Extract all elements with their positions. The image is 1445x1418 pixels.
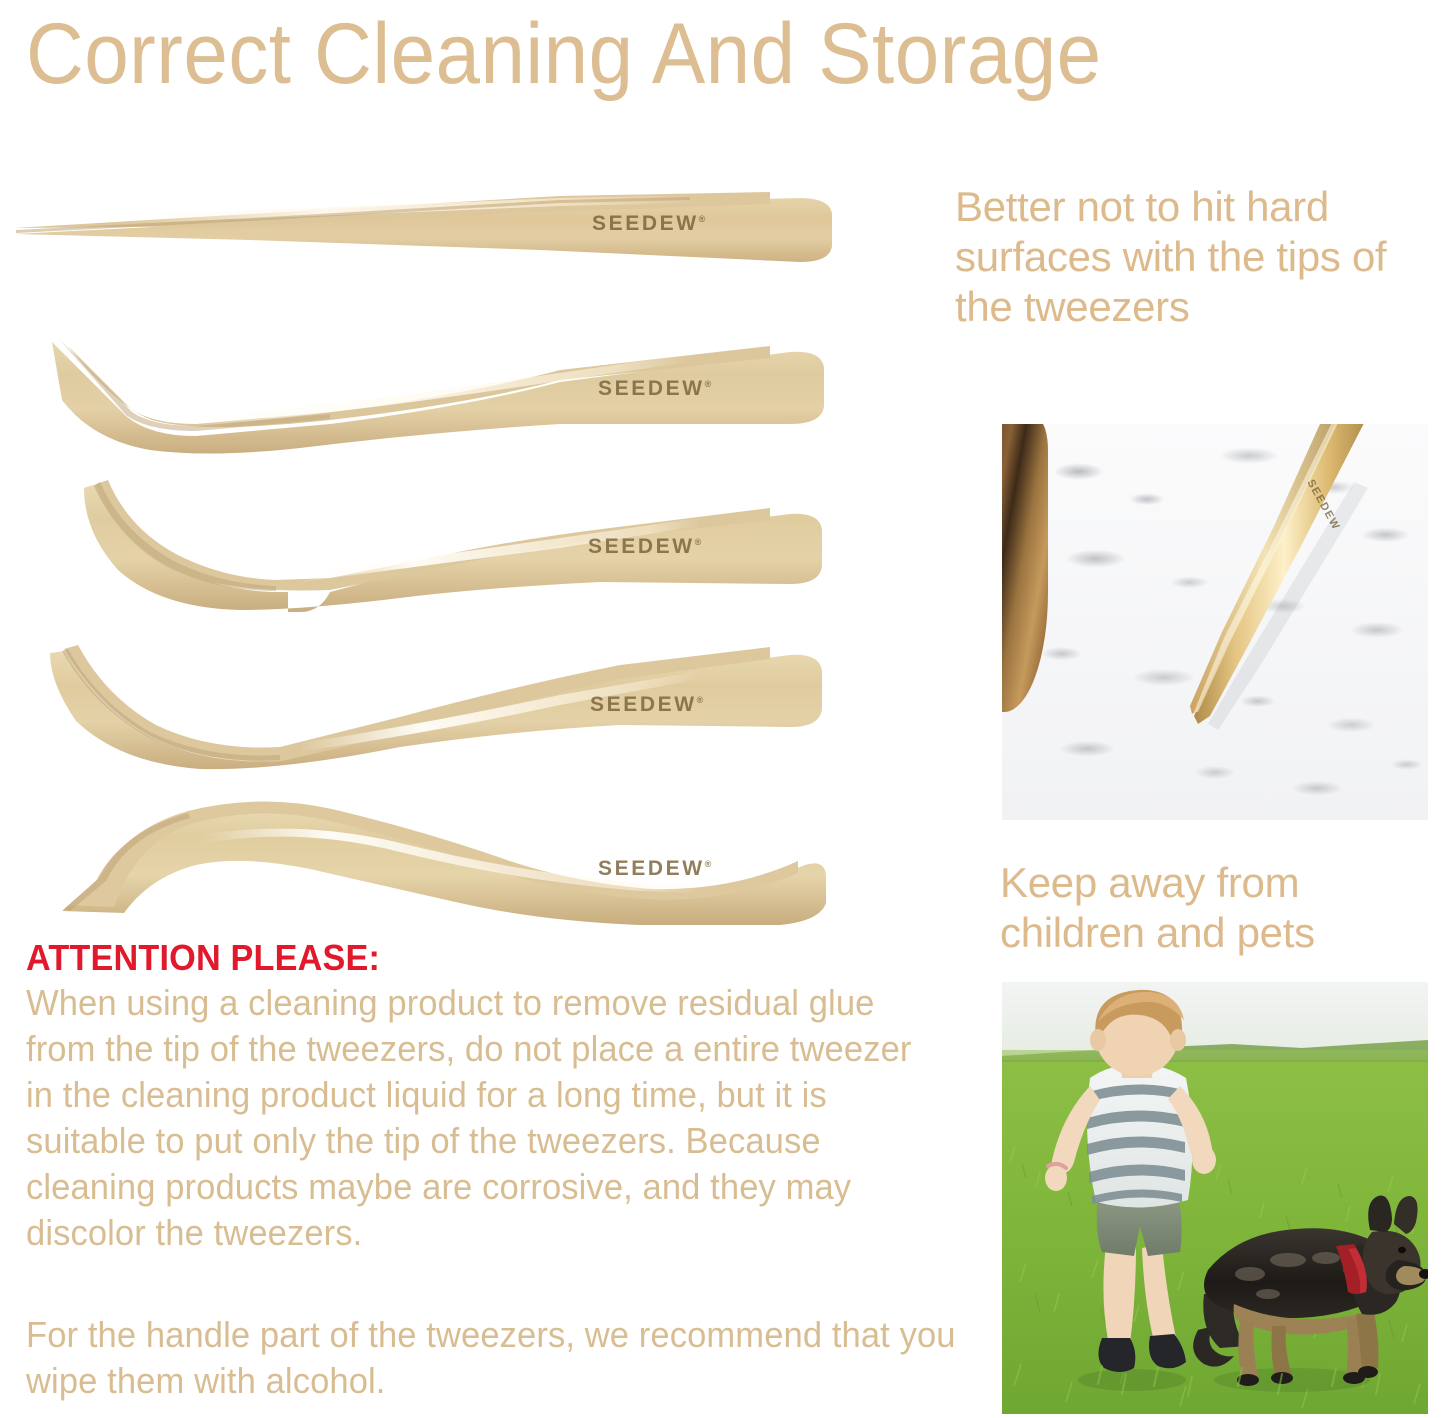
tweezer-brand-text: SEEDEW bbox=[598, 377, 705, 400]
trademark-icon: ® bbox=[699, 214, 706, 224]
tweezer-brand-logo: SEEDEW® bbox=[598, 377, 711, 401]
attention-body-text: When using a cleaning product to remove … bbox=[26, 980, 948, 1256]
tweezer-brand-logo: SEEDEW® bbox=[592, 212, 705, 236]
tweezer-boot-45: SEEDEW® bbox=[0, 320, 880, 470]
handle-care-note: For the handle part of the tweezers, we … bbox=[26, 1312, 967, 1404]
trademark-icon: ® bbox=[705, 379, 712, 389]
infographic-page: Correct Cleaning And Storage bbox=[0, 0, 1445, 1418]
tweezer-brand-logo: SEEDEW® bbox=[598, 857, 711, 881]
heading-keep-away-children-pets: Keep away from children and pets bbox=[1000, 858, 1440, 958]
photo-child-and-dog bbox=[1002, 982, 1428, 1414]
tweezer-brand-text: SEEDEW bbox=[590, 693, 697, 716]
attention-heading: ATTENTION PLEASE: bbox=[26, 938, 938, 978]
marble-photo-tweezer: SEEDEW bbox=[1002, 424, 1428, 820]
tweezer-brand-logo: SEEDEW® bbox=[588, 535, 701, 559]
attention-block: ATTENTION PLEASE: When using a cleaning … bbox=[26, 938, 986, 1256]
tweezer-brand-text: SEEDEW bbox=[598, 857, 705, 880]
tweezer-brand-text: SEEDEW bbox=[588, 535, 695, 558]
tweezer-s-curve: SEEDEW® bbox=[0, 785, 880, 935]
trademark-icon: ® bbox=[695, 537, 702, 547]
photo-tweezer-on-marble: SEEDEW bbox=[1002, 424, 1428, 820]
heading-avoid-hard-surfaces: Better not to hit hard surfaces with the… bbox=[955, 182, 1445, 332]
tweezer-curved-l: SEEDEW® bbox=[0, 470, 880, 620]
trademark-icon: ® bbox=[705, 859, 712, 869]
tweezer-brand-logo: SEEDEW® bbox=[590, 693, 703, 717]
tweezer-gallery: SEEDEW® bbox=[0, 160, 940, 920]
tweezer-straight: SEEDEW® bbox=[0, 170, 880, 320]
tweezer-brand-text: SEEDEW bbox=[592, 212, 699, 235]
trademark-icon: ® bbox=[697, 695, 704, 705]
page-title: Correct Cleaning And Storage bbox=[26, 6, 1337, 102]
tweezer-curved-volume: SEEDEW® bbox=[0, 625, 880, 775]
